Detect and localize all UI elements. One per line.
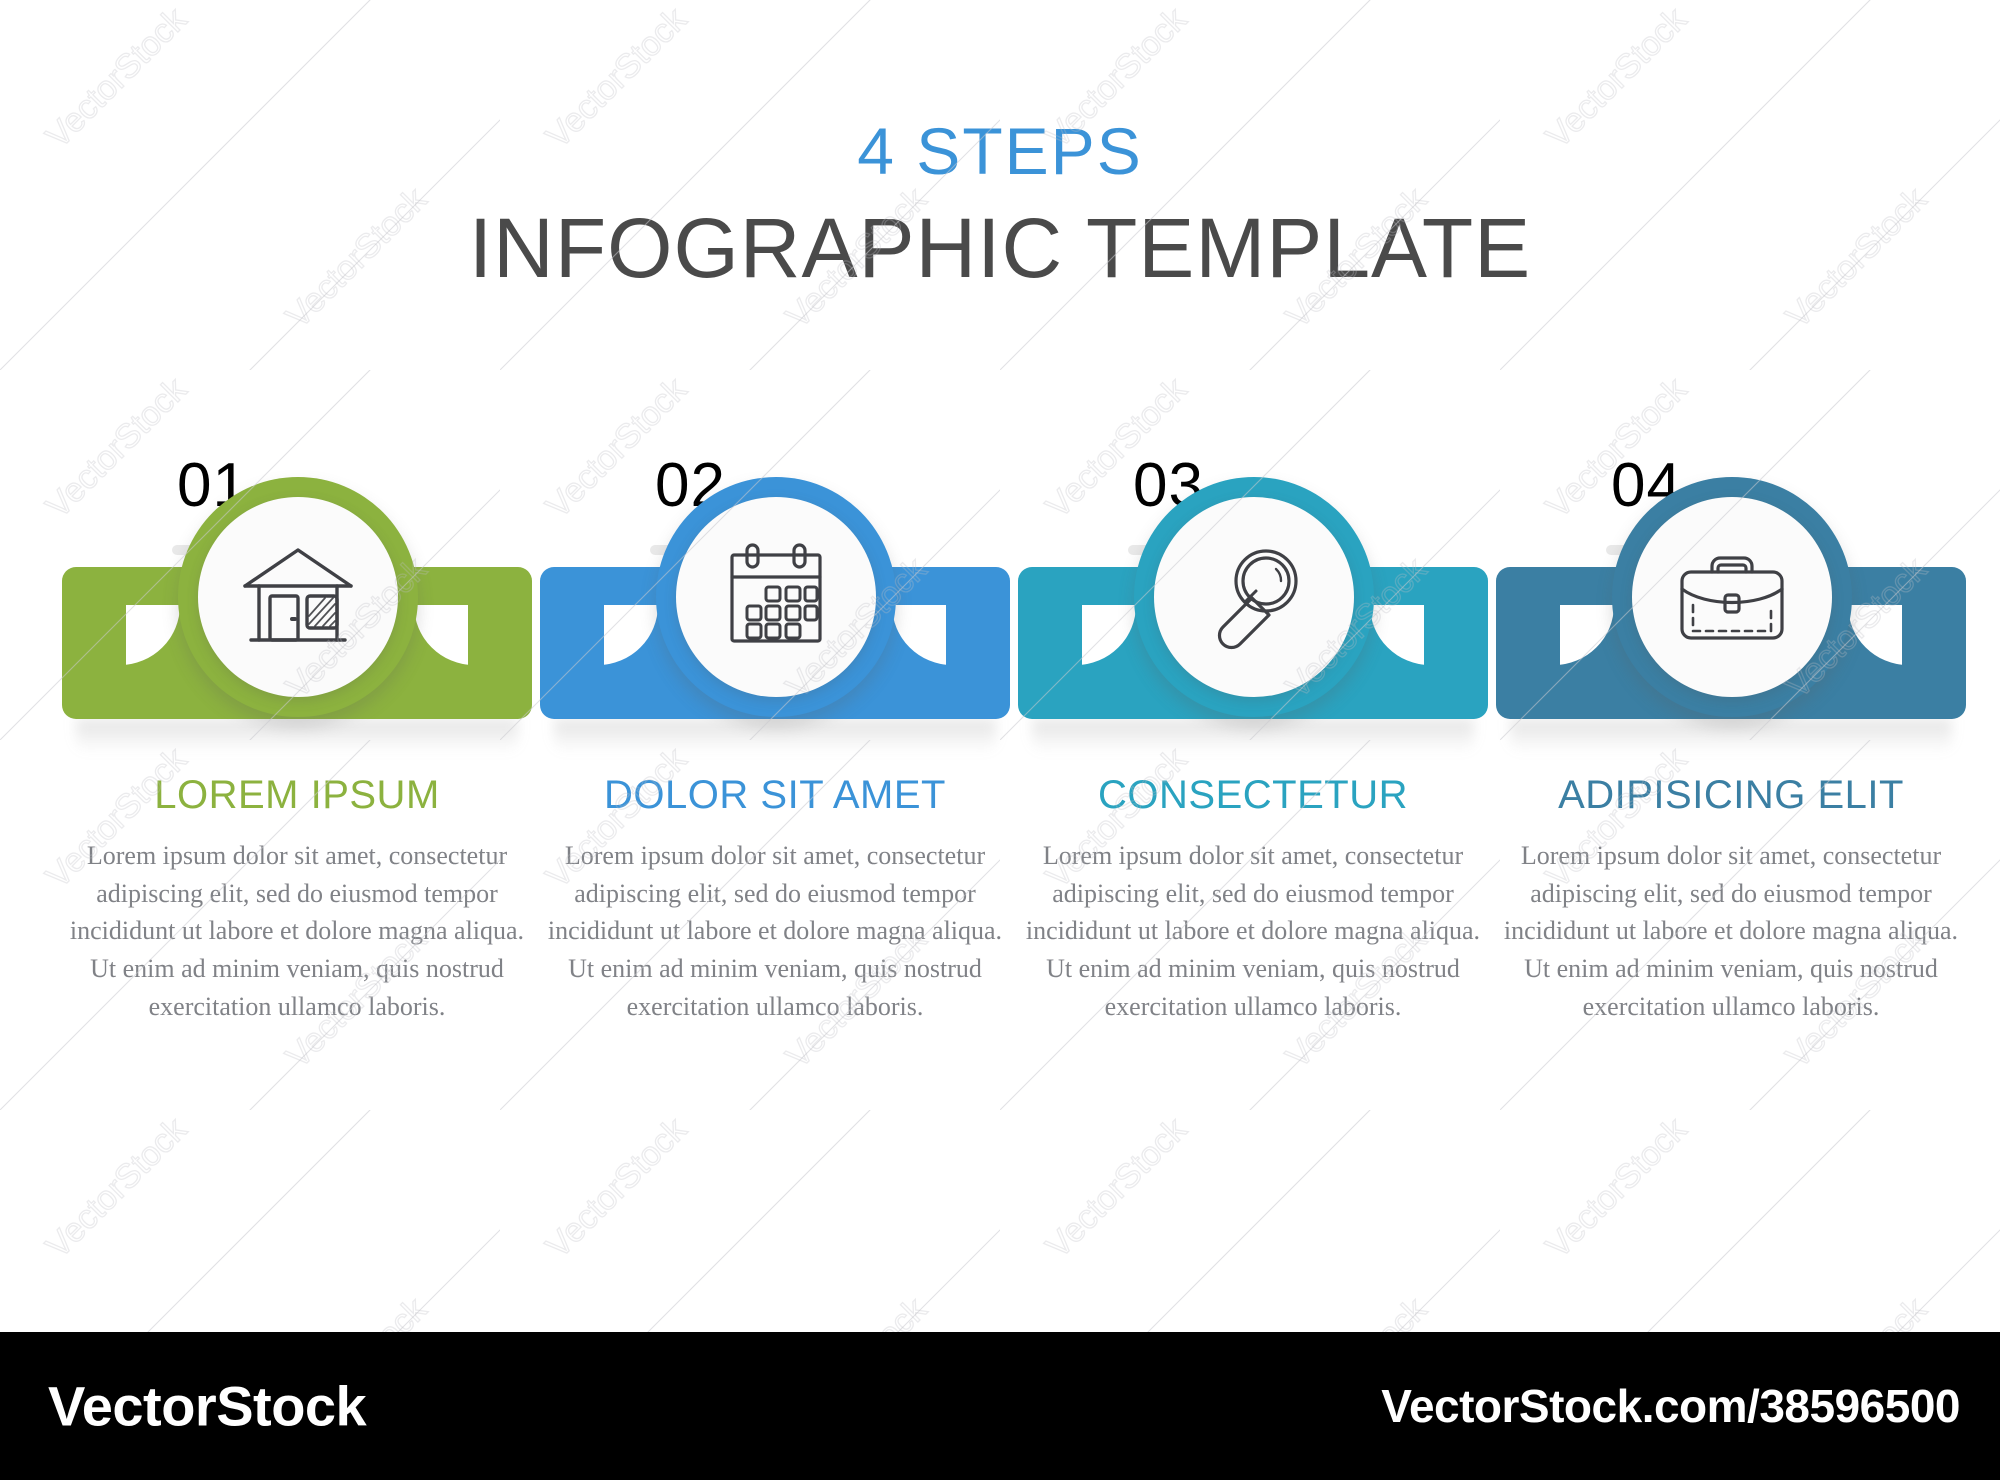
step-item-02[interactable]: 02 [540,455,1010,1155]
step-icon-disc[interactable] [1632,497,1832,697]
step-title: DOLOR SIT AMET [540,775,1010,815]
step-item-03[interactable]: 03 CONSECTETUR Lorem ipsum [1018,455,1488,1155]
eyebrow-title: 4 STEPS [0,118,2000,184]
banner-shadow [1032,719,1474,753]
banner-shadow [76,719,518,753]
banner-notch-left [1082,605,1142,667]
footer-bar: VectorStock VectorStock.com/38596500 [0,1332,2000,1480]
step-item-04[interactable]: 04 ADIPISICING ELIT [1496,455,1966,1155]
infographic-canvas: 4 STEPS INFOGRAPHIC TEMPLATE 01 [0,0,2000,1480]
footer-brand: VectorStock [48,1374,366,1439]
banner-notch-right [1364,605,1424,667]
step-body: Lorem ipsum dolor sit amet, consectetur … [1500,837,1962,1025]
house-icon [239,542,357,652]
steps-row: 01 [0,455,2000,1155]
calendar-icon [720,541,832,653]
step-title: CONSECTETUR [1018,775,1488,815]
briefcase-icon [1672,545,1792,649]
step-icon-disc[interactable] [198,497,398,697]
banner-notch-right [408,605,468,667]
step-title: LOREM IPSUM [62,775,532,815]
step-item-01[interactable]: 01 [62,455,532,1155]
banner-shadow [554,719,996,753]
step-title: ADIPISICING ELIT [1496,775,1966,815]
footer-url: VectorStock.com/38596500 [1381,1379,1960,1433]
page-header: 4 STEPS INFOGRAPHIC TEMPLATE [0,118,2000,290]
banner-notch-left [604,605,664,667]
step-icon-disc[interactable] [676,497,876,697]
step-body: Lorem ipsum dolor sit amet, consectetur … [66,837,528,1025]
magnifier-icon [1198,541,1310,653]
step-body: Lorem ipsum dolor sit amet, consectetur … [1022,837,1484,1025]
step-icon-disc[interactable] [1154,497,1354,697]
banner-shadow [1510,719,1952,753]
banner-notch-right [886,605,946,667]
step-body: Lorem ipsum dolor sit amet, consectetur … [544,837,1006,1025]
banner-notch-right [1842,605,1902,667]
page-title: INFOGRAPHIC TEMPLATE [0,206,2000,290]
banner-notch-left [1560,605,1620,667]
banner-notch-left [126,605,186,667]
